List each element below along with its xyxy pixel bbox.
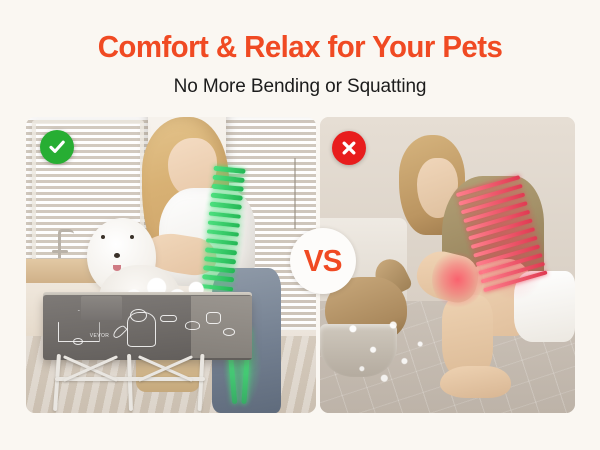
left-comparison-panel: VEVOR (26, 117, 316, 413)
header: Comfort & Relax for Your Pets No More Be… (0, 0, 600, 117)
page-subtitle: No More Bending or Squatting (0, 76, 600, 98)
dot-doodle-icon-1 (73, 338, 83, 345)
dot-doodle-icon-2 (223, 328, 235, 336)
x-circle-icon (332, 131, 366, 165)
page-title: Comfort & Relax for Your Pets (15, 29, 585, 65)
pet-tub-doodle-art (43, 295, 252, 360)
tub-brand-label: VEVOR (90, 333, 110, 339)
check-circle-icon (40, 130, 74, 164)
vs-badge: VS (290, 228, 356, 294)
bone-doodle-icon (160, 315, 177, 322)
sitting-dog-head-doodle-icon (130, 309, 147, 322)
paw-doodle-icon (185, 321, 200, 330)
promo-banner: Comfort & Relax for Your Pets No More Be… (0, 0, 600, 450)
blind-cord (294, 158, 296, 229)
comparison-section: VEVOR (26, 117, 575, 413)
pet-tub-legs (49, 354, 246, 413)
woman-bare-foot (440, 366, 511, 399)
faucet-icon (58, 229, 74, 258)
water-splash (335, 306, 447, 401)
right-photo (320, 117, 575, 413)
dog-mouth (113, 265, 121, 271)
left-photo: VEVOR (26, 117, 316, 413)
vs-label: VS (304, 243, 342, 279)
right-comparison-panel (320, 117, 575, 413)
heart-doodle-icon (112, 324, 128, 340)
faucet-base (52, 250, 68, 253)
star-doodle-icon (206, 312, 221, 324)
